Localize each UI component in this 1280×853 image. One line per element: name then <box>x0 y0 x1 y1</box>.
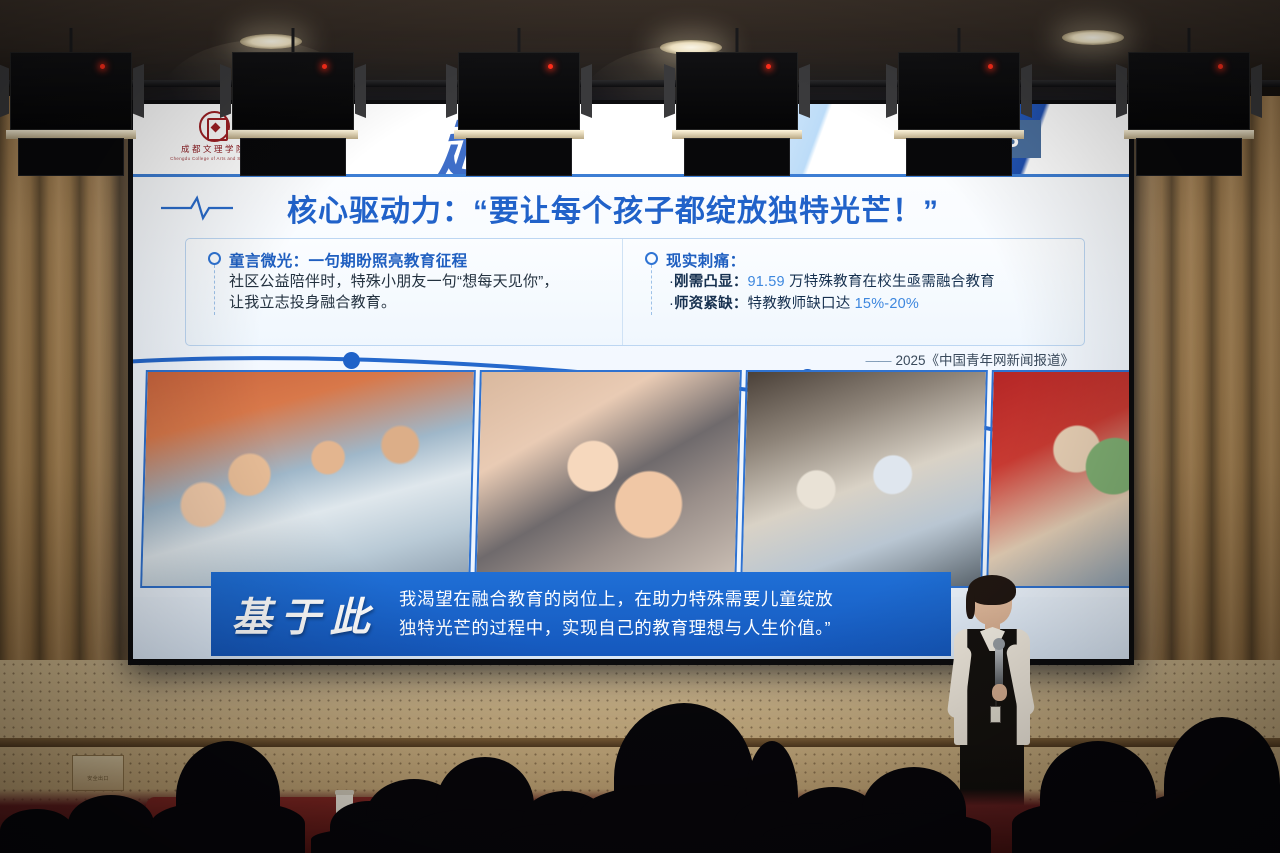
stage-light <box>676 52 798 130</box>
audience-head <box>176 741 280 853</box>
right-heading: 现实刺痛： <box>666 249 746 271</box>
stat-value-shortage: 15%-20% <box>855 296 919 312</box>
light-power-led <box>1218 64 1223 69</box>
photo-group-event <box>740 370 988 588</box>
stage-light <box>898 52 1020 130</box>
stage-light <box>232 52 354 130</box>
stage-light <box>10 52 132 130</box>
stage-light <box>458 52 580 130</box>
light-power-led <box>100 64 105 69</box>
conclusion-banner: 基于此 我渴望在融合教育的岗位上，在助力特殊需要儿童绽放 独特光芒的过程中，实现… <box>211 572 951 656</box>
source-citation: ——2025《中国青年网新闻报道》 <box>865 349 1074 369</box>
light-power-led <box>548 64 553 69</box>
stat-label-shortage: 师资紧缺： <box>674 296 748 312</box>
left-heading-row: 童言微光：一句期盼照亮教育征程 <box>208 249 622 271</box>
content-card: 童言微光：一句期盼照亮教育征程 社区公益陪伴时，特殊小朋友一句“想每天见你”， … <box>185 238 1085 346</box>
stat-label-demand: 刚需凸显： <box>674 274 748 290</box>
circle-marker-icon <box>208 252 221 265</box>
banner-calligraphy: 基于此 <box>211 585 399 643</box>
photo-volunteer-and-child <box>474 370 742 588</box>
citation-dash: —— <box>865 353 890 368</box>
right-heading-row: 现实刺痛： <box>645 249 1084 271</box>
auditorium-scene: 安全出口 成都文理学院 Chengdu College of Arts and … <box>0 0 1280 853</box>
stage-light <box>1128 52 1250 130</box>
stat-item-demand: ·刚需凸显：91.59 万特殊教育在校生亟需融合教育 <box>669 271 1084 293</box>
heartbeat-line-icon <box>161 195 281 221</box>
dashed-connector <box>651 265 652 315</box>
light-power-led <box>766 64 771 69</box>
stat-pre-shortage: 特教教师缺口达 <box>748 296 855 312</box>
page-title: 核心驱动力：“要让每个孩子都绽放独特光芒！” <box>287 186 939 230</box>
ceiling-light <box>1062 30 1124 45</box>
banner-line-1: 我渴望在融合教育的岗位上，在助力特殊需要儿童绽放 <box>399 585 937 614</box>
photo-classroom-children <box>140 370 476 588</box>
presenter-hair <box>968 575 1016 605</box>
left-heading: 童言微光：一句期盼照亮教育征程 <box>229 249 468 271</box>
presenter-badge <box>990 706 1001 723</box>
stat-item-shortage: ·师资紧缺：特教教师缺口达 15%-20% <box>669 293 1084 315</box>
left-content-column: 童言微光：一句期盼照亮教育征程 社区公益陪伴时，特殊小朋友一句“想每天见你”， … <box>186 239 622 345</box>
audience-head <box>0 809 74 853</box>
lighting-truss <box>0 80 1280 87</box>
light-power-led <box>322 64 327 69</box>
stat-value-demand: 91.59 <box>748 274 785 290</box>
light-power-led <box>988 64 993 69</box>
circle-marker-icon <box>645 252 658 265</box>
banner-line-2: 独特光芒的过程中，实现自己的教育理想与人生价值。” <box>399 614 937 643</box>
presentation-slide: 成都文理学院 Chengdu College of Arts and Scien… <box>133 104 1129 659</box>
dashed-connector <box>214 265 215 315</box>
left-body-line-2: 让我立志投身融合教育。 <box>229 292 622 313</box>
slide-title-row: 核心驱动力：“要让每个孩子都绽放独特光芒！” <box>133 182 1129 234</box>
photo-child-with-craft <box>986 370 1129 588</box>
audience-head <box>862 767 966 853</box>
arc-dot-marker <box>343 352 360 369</box>
stat-tail-demand: 万特殊教育在校生亟需融合教育 <box>789 274 995 290</box>
citation-text: 2025《中国青年网新闻报道》 <box>895 353 1074 368</box>
wall-sign-label: 安全出口 <box>73 775 123 782</box>
right-content-column: 现实刺痛： ·刚需凸显：91.59 万特殊教育在校生亟需融合教育 ·师资紧缺：特… <box>622 239 1084 345</box>
left-body-line-1: 社区公益陪伴时，特殊小朋友一句“想每天见你”， <box>229 271 622 292</box>
banner-text: 我渴望在融合教育的岗位上，在助力特殊需要儿童绽放 独特光芒的过程中，实现自己的教… <box>399 585 951 643</box>
wall-sign: 安全出口 <box>72 755 124 791</box>
audience-head <box>1164 717 1280 853</box>
photo-strip <box>143 370 1129 588</box>
presenter-hand <box>992 684 1007 701</box>
